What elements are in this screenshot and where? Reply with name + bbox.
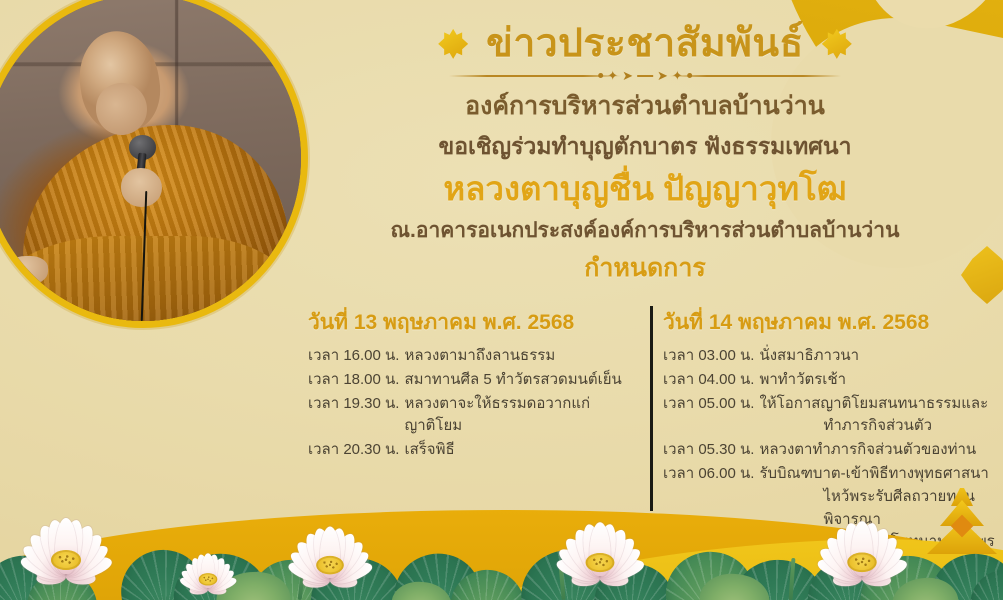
quatrefoil-ornament-icon [438, 29, 468, 59]
poster-canvas: ข่าวประชาสัมพันธ์ ✦ ➤ ➤ ✦ องค์การบริหารส… [0, 0, 1003, 600]
list-item: เวลา 16.00 น.หลวงตามาถึงลานธรรม [290, 345, 629, 368]
schedule-description: หลวงตามาถึงลานธรรม [399, 345, 555, 368]
list-item: เวลา 20.30 น.เสร็จพิธี [290, 439, 629, 462]
schedule-description: หลวงตาทำภารกิจส่วนตัวของท่าน [754, 439, 976, 462]
list-item: เวลา 05.00 น.ให้โอกาสญาติโยมสนทนาธรรมและ… [663, 393, 1003, 439]
schedule-description-cont: ทำภารกิจส่วนตัว [759, 415, 988, 438]
thai-temple-ornament-icon [925, 488, 999, 558]
lotus-seed-pod-icon [199, 573, 218, 585]
ornate-divider-icon: ✦ ➤ ➤ ✦ [449, 69, 841, 83]
list-item: เวลา 05.30 น.หลวงตาทำภารกิจส่วนตัวของท่า… [663, 439, 1003, 462]
schedule-description: ให้โอกาสญาติโยมสนทนาธรรมและทำภารกิจส่วนต… [754, 393, 988, 439]
monk-portrait-photo [0, 0, 301, 321]
day2-heading: วันที่ 14 พฤษภาคม พ.ศ. 2568 [663, 306, 1003, 339]
schedule-time: เวลา 04.00 น. [663, 369, 754, 392]
list-item: เวลา 04.00 น.พาทำวัตรเช้า [663, 369, 1003, 392]
schedule-description: สมาทานศีล 5 ทำวัตรสวดมนต์เย็น [399, 369, 621, 392]
schedule-description: พาทำวัตรเช้า [754, 369, 846, 392]
day1-heading: วันที่ 13 พฤษภาคม พ.ศ. 2568 [290, 306, 629, 339]
schedule-time: เวลา 16.00 น. [308, 345, 399, 368]
lotus-seed-pod-icon [847, 552, 876, 572]
page-title: ข่าวประชาสัมพันธ์ [486, 22, 804, 66]
page-title-row: ข่าวประชาสัมพันธ์ [300, 22, 990, 66]
list-item: เวลา 18.00 น.สมาทานศีล 5 ทำวัตรสวดมนต์เย… [290, 369, 629, 392]
header-block: ข่าวประชาสัมพันธ์ ✦ ➤ ➤ ✦ องค์การบริหารส… [300, 22, 990, 284]
venue-text: ณ.อาคารอเนกประสงค์องค์การบริหารส่วนตำบลบ… [300, 216, 990, 246]
lotus-seed-pod-icon [51, 550, 81, 570]
schedule-time: เวลา 18.00 น. [308, 369, 399, 392]
schedule-time: เวลา 20.30 น. [308, 439, 399, 462]
invitation-text: ขอเชิญร่วมทำบุญตักบาตร ฟังธรรมเทศนา [300, 129, 990, 164]
day1-item-list: เวลา 16.00 น.หลวงตามาถึงลานธรรมเวลา 18.0… [290, 345, 629, 462]
lotus-seed-pod-icon [586, 553, 615, 572]
monk-name: หลวงตาบุญชื่น ปัญญาวุทโฒ [300, 167, 990, 212]
schedule-time: เวลา 05.00 น. [663, 393, 754, 439]
list-item: เวลา 19.30 น.หลวงตาจะให้ธรรมดอวากแก่ญาติ… [290, 393, 629, 439]
portrait-frame [0, 0, 308, 328]
organization-name: องค์การบริหารส่วนตำบลบ้านว่าน [300, 90, 990, 124]
list-item: เวลา 03.00 น.นั่งสมาธิภาวนา [663, 345, 1003, 368]
schedule-time: เวลา 05.30 น. [663, 439, 754, 462]
lotus-seed-pod-icon [316, 556, 344, 574]
schedule-time: เวลา 03.00 น. [663, 345, 754, 368]
schedule-time: เวลา 19.30 น. [308, 393, 399, 439]
avatar [0, 0, 308, 328]
agenda-label: กำหนดการ [300, 252, 990, 285]
schedule-description: นั่งสมาธิภาวนา [754, 345, 859, 368]
quatrefoil-ornament-icon [822, 29, 852, 59]
lotus-flower-border [0, 488, 1003, 600]
schedule-description: หลวงตาจะให้ธรรมดอวากแก่ญาติโยม [399, 393, 629, 439]
schedule-description: เสร็จพิธี [399, 439, 454, 462]
